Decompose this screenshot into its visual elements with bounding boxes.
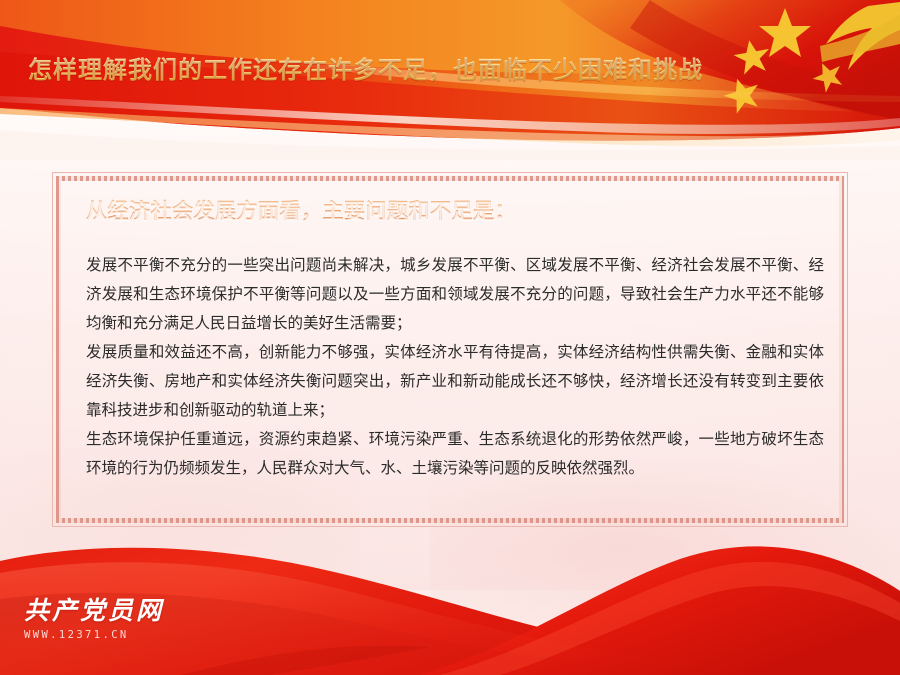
header-banner: 怎样理解我们的工作还存在许多不足，也面临不少困难和挑战 (0, 0, 900, 160)
banner-title: 怎样理解我们的工作还存在许多不足，也面临不少困难和挑战 (28, 50, 703, 85)
body-paragraph-3: 生态环境保护任重道远，资源约束趋紧、环境污染严重、生态系统退化的形势依然严峻，一… (86, 425, 824, 483)
body-paragraph-1: 发展不平衡不充分的一些突出问题尚未解决，城乡发展不平衡、区域发展不平衡、经济社会… (86, 251, 824, 338)
content-area: 从经济社会发展方面看，主要问题和不足是： 发展不平衡不充分的一些突出问题尚未解决… (86, 198, 824, 483)
footer-ribbon (0, 495, 900, 675)
body-paragraph-2: 发展质量和效益还不高，创新能力不够强，实体经济水平有待提高，实体经济结构性供需失… (86, 338, 824, 425)
site-logo[interactable]: 共产党员网 WWW.12371.CN (24, 598, 184, 641)
footer-ribbon-graphic (0, 495, 900, 675)
section-heading: 从经济社会发展方面看，主要问题和不足是： (86, 198, 824, 225)
logo-wordmark: 共产党员网 (24, 598, 184, 623)
logo-url: WWW.12371.CN (24, 629, 184, 641)
poster-canvas: 怎样理解我们的工作还存在许多不足，也面临不少困难和挑战 从经济社会发展方面看，主… (0, 0, 900, 675)
